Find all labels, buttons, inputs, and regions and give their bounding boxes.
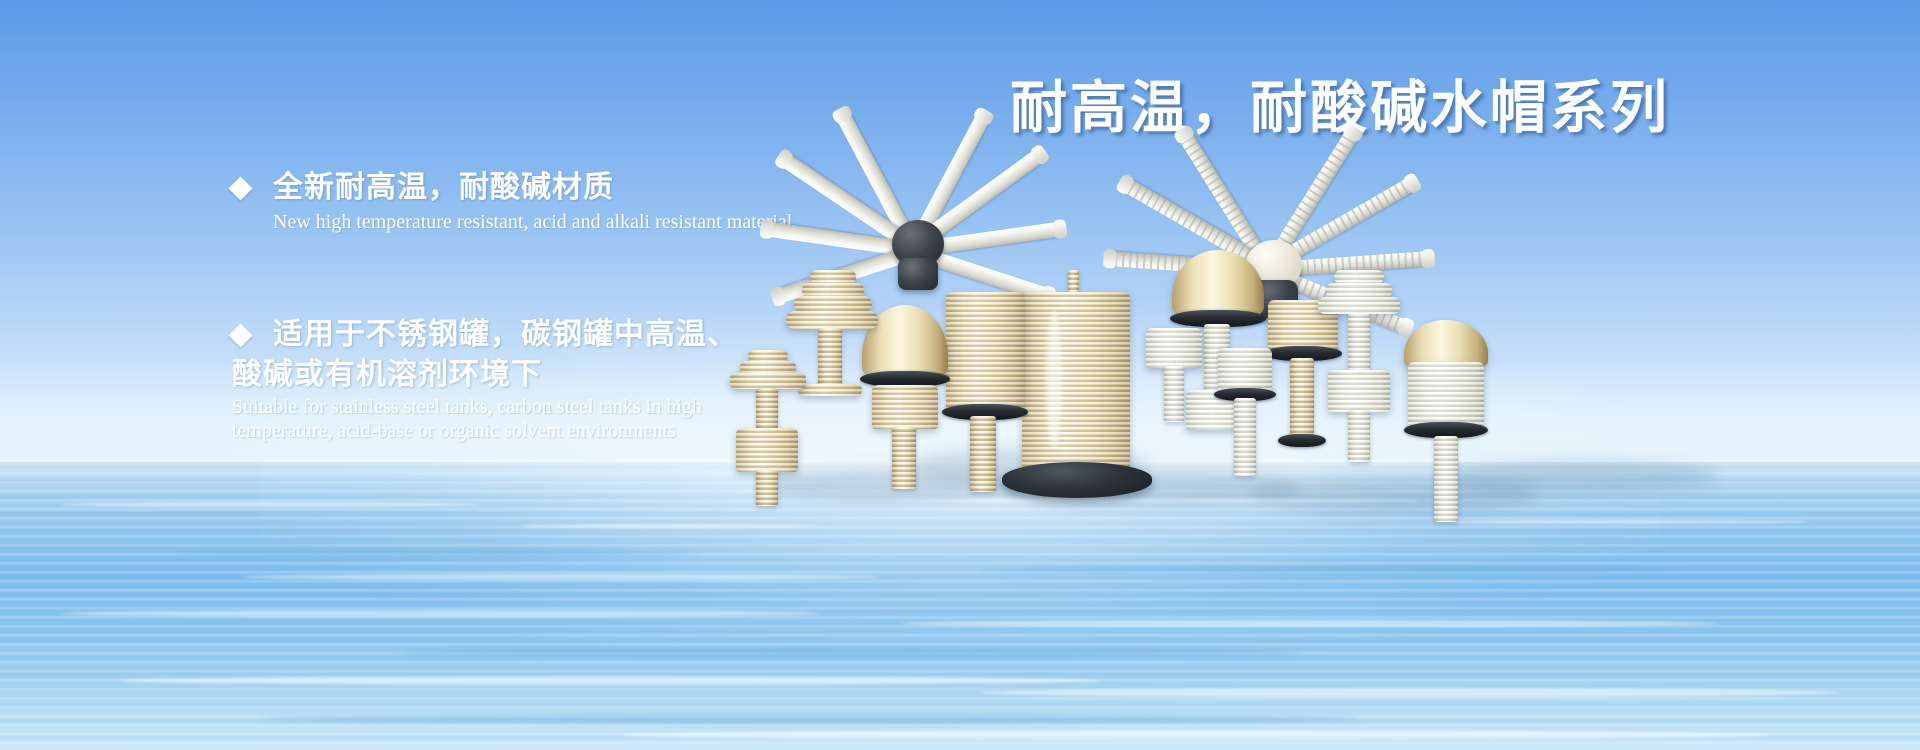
back-pale-cap [1130, 328, 1220, 478]
feature-2-cn-line-1: 适用于不锈钢罐，碳钢罐中高温、 [273, 315, 738, 355]
small-stepped-nozzle [718, 350, 818, 510]
diamond-icon [228, 323, 252, 347]
product-banner: 耐高温，耐酸碱水帽系列 全新耐高温，耐酸碱材质 New high tempera… [0, 0, 1920, 750]
diamond-icon [228, 176, 252, 200]
feature-2-en-line-2: temperature, acid-base or organic solven… [232, 420, 738, 444]
water-cap-product-cluster [700, 130, 1850, 550]
feature-2-en-line-1: Suitable for stainless steel tanks, carb… [232, 396, 738, 420]
feature-2-cn-line-2: 酸碱或有机溶剂环境下 [232, 355, 738, 395]
pale-disc-stack-right [1388, 320, 1508, 530]
feature-item-2: 适用于不锈钢罐，碳钢罐中高温、 酸碱或有机溶剂环境下 Suitable for … [232, 315, 738, 443]
